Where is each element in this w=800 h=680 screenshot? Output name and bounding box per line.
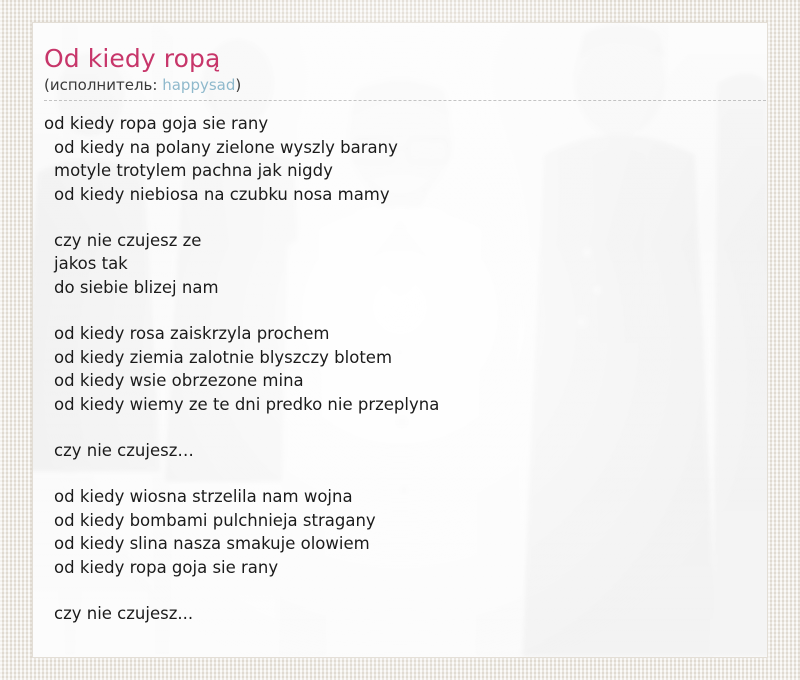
lyric-line: czy nie czujesz...: [44, 602, 767, 626]
lyric-stanza: czy nie czujesz zejakos takdo siebie bli…: [44, 229, 767, 300]
page-title: Od kiedy ropą: [44, 45, 757, 73]
lyric-line: od kiedy na polany zielone wyszly barany: [44, 136, 767, 160]
artist-label: (исполнитель:: [44, 76, 157, 94]
lyric-line: do siebie blizej nam: [44, 276, 767, 300]
lyric-stanza: czy nie czujesz...: [44, 602, 767, 626]
lyric-line: od kiedy bombami pulchnieja stragany: [44, 509, 767, 533]
lyric-line: od kiedy ropa goja sie rany: [44, 556, 767, 580]
lyric-line: motyle trotylem pachna jak nigdy: [44, 159, 767, 183]
lyric-line: od kiedy wiemy ze te dni predko nie prze…: [44, 393, 767, 417]
lyric-line: od kiedy rosa zaiskrzyla prochem: [44, 322, 767, 346]
lyric-stanza: czy nie czujesz…: [44, 439, 767, 463]
lyric-line: czy nie czujesz ze: [44, 229, 767, 253]
artist-suffix: ): [235, 76, 241, 94]
lyric-stanza: od kiedy rosa zaiskrzyla prochemod kiedy…: [44, 322, 767, 416]
page-frame: Od kiedy ropą (исполнитель: happysad) od…: [0, 0, 800, 680]
artist-line: (исполнитель: happysad): [44, 76, 757, 95]
lyric-line: od kiedy ropa goja sie rany: [44, 112, 767, 136]
lyric-stanza: od kiedy ropa goja sie ranyod kiedy na p…: [44, 112, 767, 206]
lyric-line: od kiedy wsie obrzezone mina: [44, 369, 767, 393]
lyrics-body: od kiedy ropa goja sie ranyod kiedy na p…: [33, 101, 767, 626]
artist-link[interactable]: happysad: [162, 76, 235, 94]
lyric-line: czy nie czujesz…: [44, 439, 767, 463]
lyric-line: od kiedy niebiosa na czubku nosa mamy: [44, 183, 767, 207]
lyric-line: od kiedy slina nasza smakuje olowiem: [44, 532, 767, 556]
song-header: Od kiedy ropą (исполнитель: happysad): [33, 23, 767, 101]
content-panel: Od kiedy ropą (исполнитель: happysad) od…: [32, 22, 768, 658]
lyric-line: od kiedy wiosna strzelila nam wojna: [44, 485, 767, 509]
lyric-line: jakos tak: [44, 252, 767, 276]
lyric-line: od kiedy ziemia zalotnie blyszczy blotem: [44, 346, 767, 370]
lyric-stanza: od kiedy wiosna strzelila nam wojnaod ki…: [44, 485, 767, 579]
